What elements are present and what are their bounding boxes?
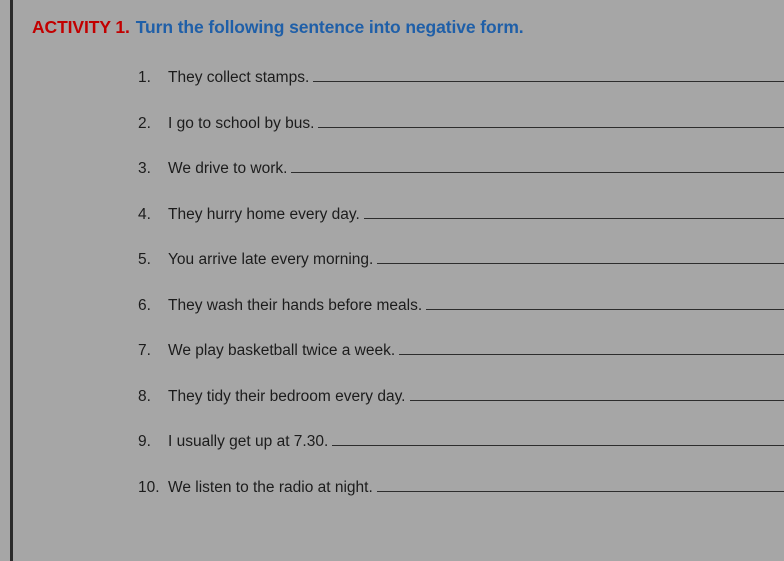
exercise-number: 4.: [138, 206, 168, 224]
answer-blank-line[interactable]: [291, 157, 784, 173]
exercise-row: 1.They collect stamps.: [138, 66, 784, 87]
exercise-number: 9.: [138, 433, 168, 451]
exercise-row: 7.We play basketball twice a week.: [138, 339, 784, 360]
exercise-row: 8.They tidy their bedroom every day.: [138, 385, 784, 406]
answer-blank-container[interactable]: [395, 339, 784, 355]
exercise-item: 2.I go to school by bus.: [138, 112, 784, 158]
exercise-item: 5.You arrive late every morning.: [138, 248, 784, 294]
exercise-number: 1.: [138, 69, 168, 87]
answer-blank-line[interactable]: [364, 203, 784, 219]
exercise-sentence: We drive to work.: [168, 160, 287, 178]
activity-label: ACTIVITY 1.: [32, 17, 130, 37]
answer-blank-container[interactable]: [314, 112, 784, 128]
exercise-row: 3.We drive to work.: [138, 157, 784, 178]
exercise-sentence: We play basketball twice a week.: [168, 342, 395, 360]
exercise-number: 2.: [138, 115, 168, 133]
exercise-number: 5.: [138, 251, 168, 269]
exercise-sentence: They collect stamps.: [168, 69, 309, 87]
answer-blank-container[interactable]: [373, 476, 784, 492]
exercise-number: 10.: [138, 479, 168, 497]
answer-blank-line[interactable]: [332, 430, 784, 446]
answer-blank-line[interactable]: [426, 294, 784, 310]
answer-blank-container[interactable]: [422, 294, 784, 310]
exercise-item: 6.They wash their hands before meals.: [138, 294, 784, 340]
exercise-item: 9.I usually get up at 7.30.: [138, 430, 784, 476]
exercise-number: 8.: [138, 388, 168, 406]
answer-blank-container[interactable]: [406, 385, 784, 401]
exercise-sentence: They tidy their bedroom every day.: [168, 388, 406, 406]
worksheet-content: ACTIVITY 1.Turn the following sentence i…: [30, 0, 784, 561]
exercise-item: 3.We drive to work.: [138, 157, 784, 203]
exercise-sentence: You arrive late every morning.: [168, 251, 373, 269]
exercise-item: 7.We play basketball twice a week.: [138, 339, 784, 385]
activity-instruction: Turn the following sentence into negativ…: [136, 17, 524, 37]
answer-blank-container[interactable]: [287, 157, 784, 173]
exercise-row: 10.We listen to the radio at night.: [138, 476, 784, 497]
activity-heading: ACTIVITY 1.Turn the following sentence i…: [32, 17, 524, 38]
answer-blank-line[interactable]: [377, 248, 784, 264]
exercise-row: 5.You arrive late every morning.: [138, 248, 784, 269]
exercise-item: 8.They tidy their bedroom every day.: [138, 385, 784, 431]
exercise-number: 3.: [138, 160, 168, 178]
exercise-item: 10.We listen to the radio at night.: [138, 476, 784, 522]
exercise-list: 1.They collect stamps.2.I go to school b…: [138, 66, 784, 521]
exercise-row: 4.They hurry home every day.: [138, 203, 784, 224]
worksheet-page: ACTIVITY 1.Turn the following sentence i…: [0, 0, 784, 561]
exercise-number: 6.: [138, 297, 168, 315]
exercise-sentence: I go to school by bus.: [168, 115, 314, 133]
exercise-row: 2.I go to school by bus.: [138, 112, 784, 133]
exercise-sentence: They wash their hands before meals.: [168, 297, 422, 315]
exercise-row: 6.They wash their hands before meals.: [138, 294, 784, 315]
answer-blank-line[interactable]: [399, 339, 784, 355]
exercise-row: 9.I usually get up at 7.30.: [138, 430, 784, 451]
exercise-item: 4.They hurry home every day.: [138, 203, 784, 249]
answer-blank-line[interactable]: [313, 66, 784, 82]
answer-blank-line[interactable]: [377, 476, 784, 492]
answer-blank-container[interactable]: [360, 203, 784, 219]
exercise-number: 7.: [138, 342, 168, 360]
answer-blank-container[interactable]: [373, 248, 784, 264]
answer-blank-container[interactable]: [328, 430, 784, 446]
answer-blank-container[interactable]: [309, 66, 784, 82]
answer-blank-line[interactable]: [410, 385, 784, 401]
exercise-sentence: They hurry home every day.: [168, 206, 360, 224]
answer-blank-line[interactable]: [318, 112, 784, 128]
exercise-sentence: I usually get up at 7.30.: [168, 433, 328, 451]
exercise-sentence: We listen to the radio at night.: [168, 479, 373, 497]
exercise-item: 1.They collect stamps.: [138, 66, 784, 112]
page-left-border: [10, 0, 13, 561]
